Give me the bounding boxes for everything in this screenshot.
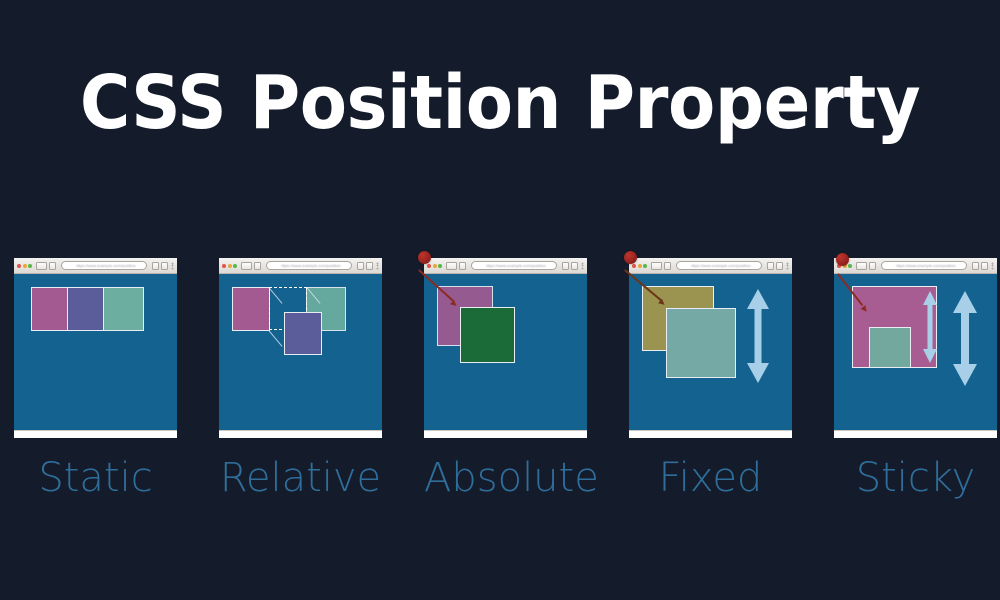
label-absolute: Absolute	[424, 452, 587, 504]
viewport-absolute	[424, 275, 587, 430]
share-icon[interactable]	[767, 262, 774, 270]
label-sticky: Sticky	[834, 452, 997, 504]
traffic-lights	[17, 264, 32, 268]
share-icon[interactable]	[972, 262, 979, 270]
chrome-right-buttons	[152, 262, 174, 270]
browser-window-static: https://www.example.com/position	[14, 258, 177, 438]
label-static: Static	[14, 452, 177, 504]
reload-icon[interactable]	[664, 262, 671, 270]
browser-chrome: https://www.example.com/position	[424, 258, 587, 274]
chrome-right-buttons	[562, 262, 584, 270]
viewport-fixed	[629, 275, 792, 430]
maximize-icon[interactable]	[848, 264, 852, 268]
three-dots-icon[interactable]	[990, 262, 994, 270]
nav-buttons	[241, 262, 261, 270]
label-row: Static Relative Absolute Fixed Sticky	[0, 452, 1000, 512]
scroll-arrow-icon	[747, 289, 769, 383]
tabs-icon[interactable]	[571, 262, 578, 270]
anchor-pin-icon	[624, 251, 637, 264]
back-forward-icon[interactable]	[446, 262, 457, 270]
browser-window-sticky: https://www.example.com/position	[834, 258, 997, 438]
minimize-icon[interactable]	[638, 264, 642, 268]
browser-chrome: https://www.example.com/position	[629, 258, 792, 274]
static-box-two	[67, 287, 104, 331]
maximize-icon[interactable]	[438, 264, 442, 268]
scroll-arrow-icon	[953, 291, 977, 386]
reload-icon[interactable]	[459, 262, 466, 270]
viewport-relative	[219, 275, 382, 430]
anchor-pin-icon	[836, 253, 849, 266]
reload-icon[interactable]	[869, 262, 876, 270]
minimize-icon[interactable]	[433, 264, 437, 268]
traffic-lights	[222, 264, 237, 268]
maximize-icon[interactable]	[643, 264, 647, 268]
nav-buttons	[651, 262, 671, 270]
chrome-right-buttons	[972, 262, 994, 270]
back-forward-icon[interactable]	[856, 262, 867, 270]
tabs-icon[interactable]	[981, 262, 988, 270]
close-icon[interactable]	[632, 264, 636, 268]
traffic-lights	[427, 264, 442, 268]
inner-scroll-arrow-icon	[923, 291, 937, 363]
viewport-static	[14, 275, 177, 430]
minimize-icon[interactable]	[228, 264, 232, 268]
window-footer	[629, 430, 792, 438]
minimize-icon[interactable]	[23, 264, 27, 268]
url-text: https://www.example.com/position	[76, 263, 141, 269]
close-icon[interactable]	[17, 264, 21, 268]
panel-relative: https://www.example.com/position	[219, 258, 382, 438]
tabs-icon[interactable]	[776, 262, 783, 270]
page-title: CSS Position Property	[35, 66, 965, 140]
nav-buttons	[446, 262, 466, 270]
browser-chrome: https://www.example.com/position	[834, 258, 997, 274]
chrome-right-buttons	[767, 262, 789, 270]
three-dots-icon[interactable]	[580, 262, 584, 270]
url-text: https://www.example.com/position	[281, 263, 346, 269]
url-input[interactable]: https://www.example.com/position	[266, 261, 353, 270]
absolute-positioned-box	[460, 307, 515, 363]
three-dots-icon[interactable]	[375, 262, 379, 270]
back-forward-icon[interactable]	[36, 262, 47, 270]
maximize-icon[interactable]	[28, 264, 32, 268]
window-footer	[834, 430, 997, 438]
label-relative: Relative	[219, 452, 382, 504]
panel-static: https://www.example.com/position	[14, 258, 177, 438]
url-text: https://www.example.com/position	[691, 263, 756, 269]
url-input[interactable]: https://www.example.com/position	[61, 261, 148, 270]
url-input[interactable]: https://www.example.com/position	[881, 261, 968, 270]
share-icon[interactable]	[152, 262, 159, 270]
close-icon[interactable]	[427, 264, 431, 268]
tabs-icon[interactable]	[161, 262, 168, 270]
offset-connector-bottom-left	[268, 330, 282, 347]
poster-canvas: CSS Position Property https://www	[0, 0, 1000, 600]
static-box-one	[31, 287, 68, 331]
relative-box-one	[232, 287, 270, 331]
back-forward-icon[interactable]	[241, 262, 252, 270]
static-box-three	[103, 287, 144, 331]
url-input[interactable]: https://www.example.com/position	[676, 261, 763, 270]
maximize-icon[interactable]	[233, 264, 237, 268]
nav-buttons	[856, 262, 876, 270]
three-dots-icon[interactable]	[785, 262, 789, 270]
share-icon[interactable]	[562, 262, 569, 270]
close-icon[interactable]	[222, 264, 226, 268]
browser-window-relative: https://www.example.com/position	[219, 258, 382, 438]
tabs-icon[interactable]	[366, 262, 373, 270]
nav-buttons	[36, 262, 56, 270]
window-footer	[219, 430, 382, 438]
panel-sticky: https://www.example.com/position	[834, 258, 997, 438]
fixed-positioned-box	[666, 308, 736, 378]
panel-absolute: https://www.example.com/position	[424, 258, 587, 438]
panel-fixed: https://www.example.com/position	[629, 258, 792, 438]
traffic-lights	[632, 264, 647, 268]
browser-chrome: https://www.example.com/position	[14, 258, 177, 274]
viewport-sticky	[834, 275, 997, 430]
back-forward-icon[interactable]	[651, 262, 662, 270]
browser-window-fixed: https://www.example.com/position	[629, 258, 792, 438]
reload-icon[interactable]	[49, 262, 56, 270]
reload-icon[interactable]	[254, 262, 261, 270]
chrome-right-buttons	[357, 262, 379, 270]
sticky-positioned-box	[869, 327, 911, 368]
window-footer	[14, 430, 177, 438]
window-footer	[424, 430, 587, 438]
url-text: https://www.example.com/position	[486, 263, 551, 269]
share-icon[interactable]	[357, 262, 364, 270]
browser-window-absolute: https://www.example.com/position	[424, 258, 587, 438]
label-fixed: Fixed	[629, 452, 792, 504]
url-text: https://www.example.com/position	[896, 263, 961, 269]
browser-chrome: https://www.example.com/position	[219, 258, 382, 274]
three-dots-icon[interactable]	[170, 262, 174, 270]
url-input[interactable]: https://www.example.com/position	[471, 261, 558, 270]
panel-row: https://www.example.com/position	[0, 258, 1000, 438]
anchor-pin-icon	[418, 251, 431, 264]
relative-box-two-offset	[284, 312, 322, 355]
